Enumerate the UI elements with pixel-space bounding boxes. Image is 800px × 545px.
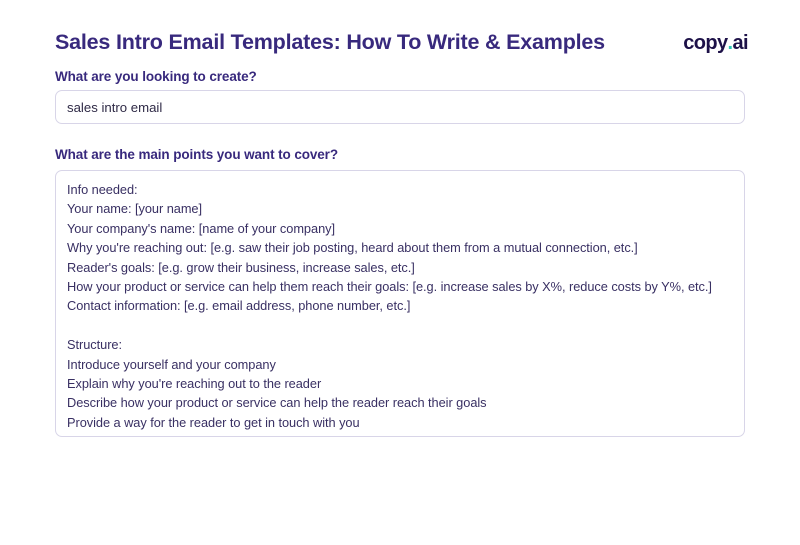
textarea-line: Contact information: [e.g. email address… — [67, 296, 733, 315]
textarea-line: Info needed: — [67, 180, 733, 199]
copyai-logo: copy . ai — [683, 32, 748, 55]
brand-name-first: copy — [683, 32, 727, 55]
textarea-line: Structure: — [67, 335, 733, 354]
textarea-line: Explain why you're reaching out to the r… — [67, 374, 733, 393]
textarea-line: Your company's name: [name of your compa… — [67, 219, 733, 238]
textarea-line: Why you're reaching out: [e.g. saw their… — [67, 238, 733, 257]
main-points-field-label: What are the main points you want to cov… — [55, 147, 338, 162]
textarea-line: Provide a way for the reader to get in t… — [67, 413, 733, 432]
main-points-textarea[interactable]: Info needed:Your name: [your name]Your c… — [55, 170, 745, 437]
textarea-line: Your name: [your name] — [67, 199, 733, 218]
textarea-line: Describe how your product or service can… — [67, 393, 733, 412]
page-root: Sales Intro Email Templates: How To Writ… — [0, 0, 800, 545]
textarea-line: Introduce yourself and your company — [67, 355, 733, 374]
page-title: Sales Intro Email Templates: How To Writ… — [55, 31, 605, 55]
textarea-line: Reader's goals: [e.g. grow their busines… — [67, 258, 733, 277]
create-input[interactable] — [55, 90, 745, 124]
page-header: Sales Intro Email Templates: How To Writ… — [55, 26, 750, 60]
brand-name-second: ai — [733, 32, 748, 55]
create-field-label: What are you looking to create? — [55, 69, 257, 84]
textarea-line — [67, 316, 733, 335]
textarea-line: How your product or service can help the… — [67, 277, 733, 296]
